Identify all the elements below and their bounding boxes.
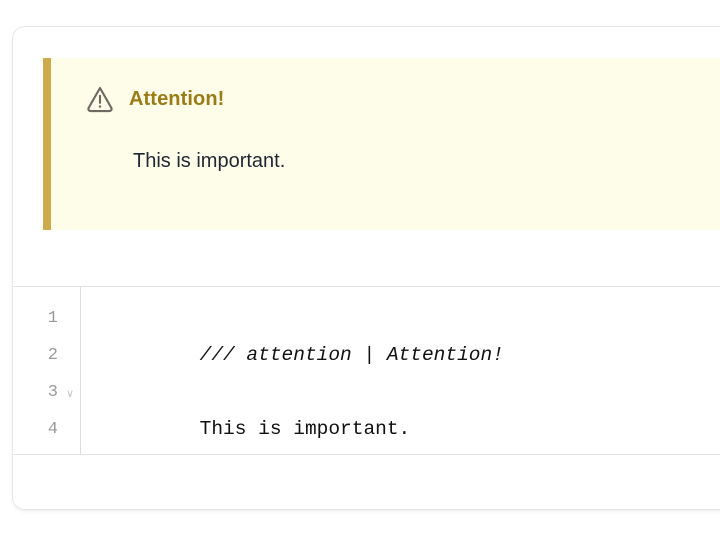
admonition-title-row: Attention! <box>85 84 224 114</box>
fold-chevron-icon[interactable] <box>63 411 77 448</box>
line-number: 4 <box>13 411 80 448</box>
line-number-label: 1 <box>48 309 58 328</box>
fold-chevron-icon[interactable] <box>63 300 77 337</box>
code-text-area[interactable]: /// attention | Attention! This is impor… <box>81 287 720 454</box>
preview-card: Attention! This is important. 1 2 3 ∨ 4 <box>12 26 720 510</box>
admonition-body-text: This is important. <box>133 150 285 173</box>
warning-triangle-icon <box>85 84 115 114</box>
line-number: 1 <box>13 300 80 337</box>
line-number-label: 2 <box>48 346 58 365</box>
card-footer-area <box>13 455 720 509</box>
source-code-editor[interactable]: 1 2 3 ∨ 4 /// attention | Attention! <box>13 287 720 455</box>
code-line-text: This is important. <box>200 418 411 440</box>
line-number: 3 ∨ <box>13 374 80 411</box>
line-number-label: 3 <box>48 383 58 402</box>
code-line[interactable]: /// attention | Attention! <box>106 300 720 337</box>
rendered-preview-pane: Attention! This is important. <box>13 27 720 287</box>
line-number: 2 <box>13 337 80 374</box>
admonition-title: Attention! <box>129 88 224 111</box>
admonition-attention-block: Attention! This is important. <box>43 58 720 230</box>
code-line-text: /// attention | Attention! <box>200 344 504 366</box>
fold-chevron-icon[interactable] <box>63 337 77 374</box>
line-number-label: 4 <box>48 420 58 439</box>
fold-chevron-icon[interactable]: ∨ <box>63 374 77 411</box>
line-number-gutter: 1 2 3 ∨ 4 <box>13 287 81 454</box>
